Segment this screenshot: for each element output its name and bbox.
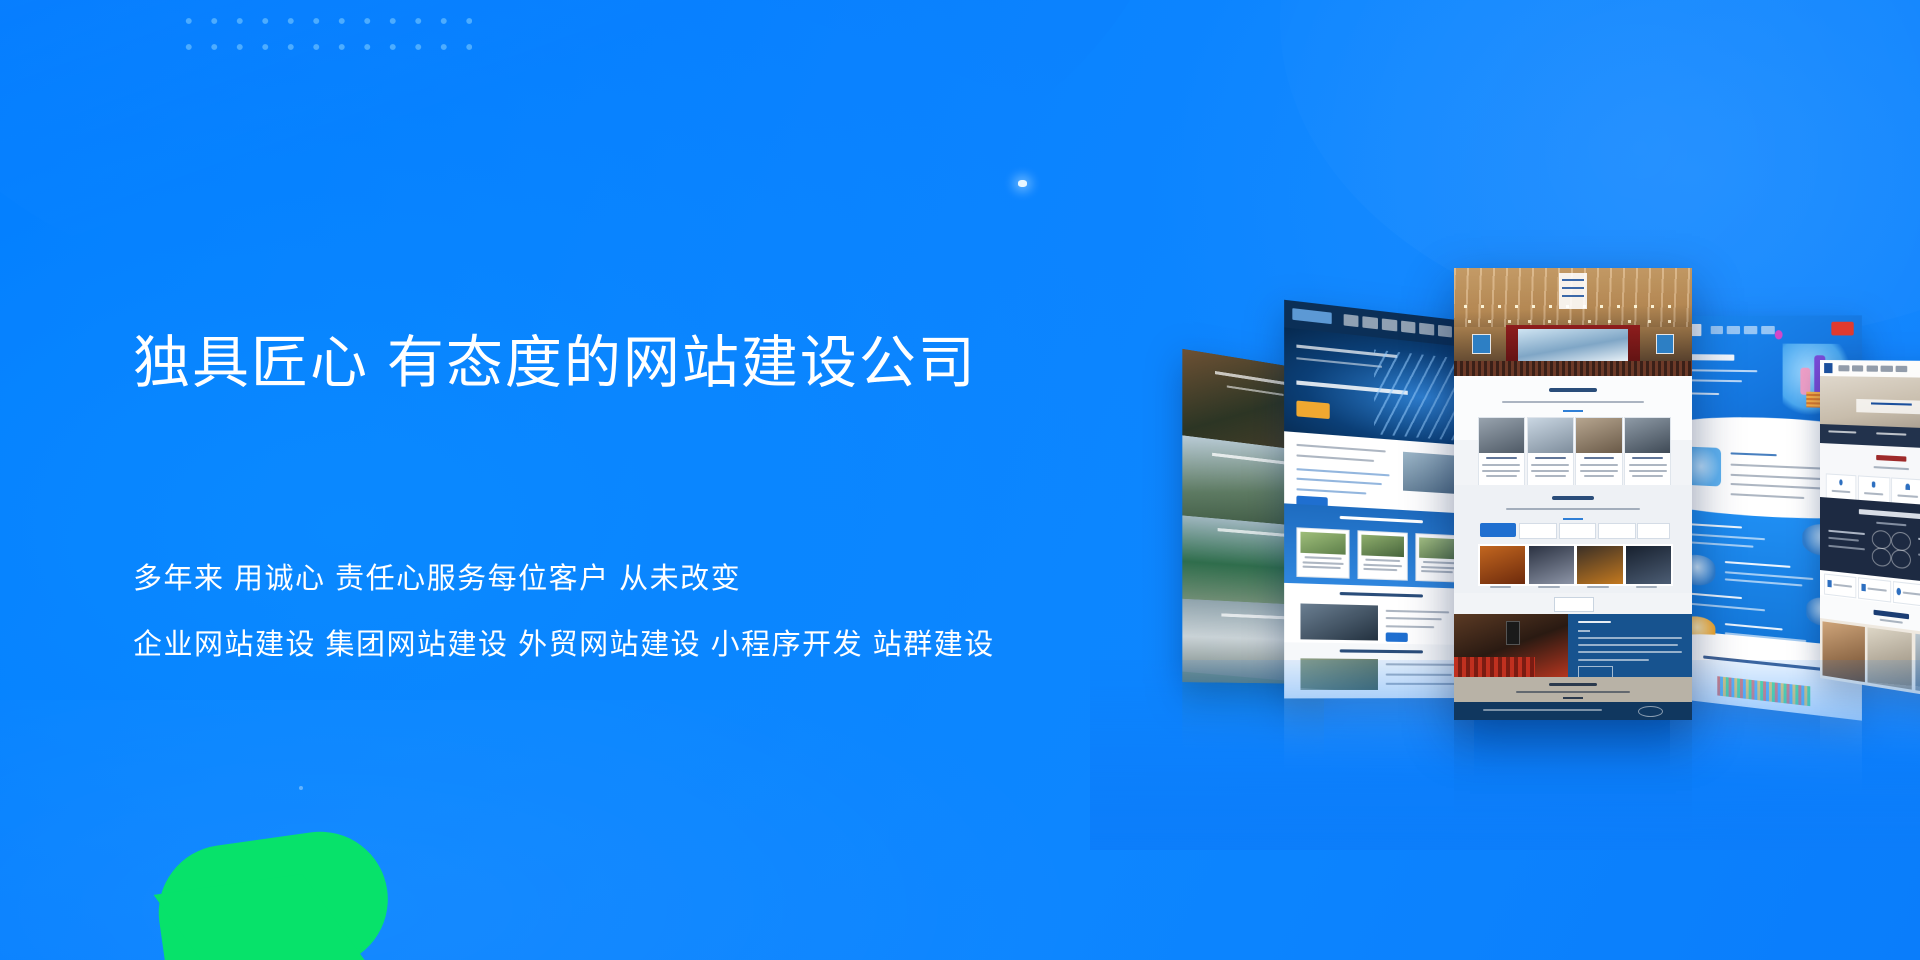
showcase-panel-reflection: [1454, 720, 1692, 920]
showcase-panel-interior-design-website[interactable]: [1820, 360, 1920, 702]
showcase-panel-reflection: [1284, 687, 1474, 828]
showcase-panel-biotech-dna-website[interactable]: [1284, 300, 1474, 699]
hero-banner: 独具匠心 有态度的网站建设公司 多年来 用诚心 责任心服务每位客户 从未改变 企…: [0, 0, 1920, 960]
showcase-panel-reflection: [1670, 698, 1862, 847]
showcase-panel-theater-auditorium-website[interactable]: [1454, 268, 1692, 720]
micro-dot-icon: [299, 786, 303, 790]
subheadline-block: 多年来 用诚心 责任心服务每位客户 从未改变 企业网站建设 集团网站建设 外贸网…: [133, 565, 1133, 660]
website-design-showcase: [1130, 250, 1920, 770]
background-arc-light: [0, 0, 840, 300]
subheadline-primary: 多年来 用诚心 责任心服务每位客户 从未改变: [133, 565, 1133, 594]
page-title: 独具匠心 有态度的网站建设公司: [133, 330, 1113, 397]
subheadline-services: 企业网站建设 集团网站建设 外贸网站建设 小程序开发 站群建设: [133, 631, 1133, 660]
background-glow: [0, 700, 1100, 960]
dot-grid-pattern-icon: [176, 8, 472, 52]
headline-block: 独具匠心 有态度的网站建设公司: [133, 330, 1113, 397]
green-capsule-shape-icon: [150, 823, 397, 960]
light-sparkle-icon: [1018, 180, 1027, 187]
background-arc-dark: [180, 0, 1180, 220]
